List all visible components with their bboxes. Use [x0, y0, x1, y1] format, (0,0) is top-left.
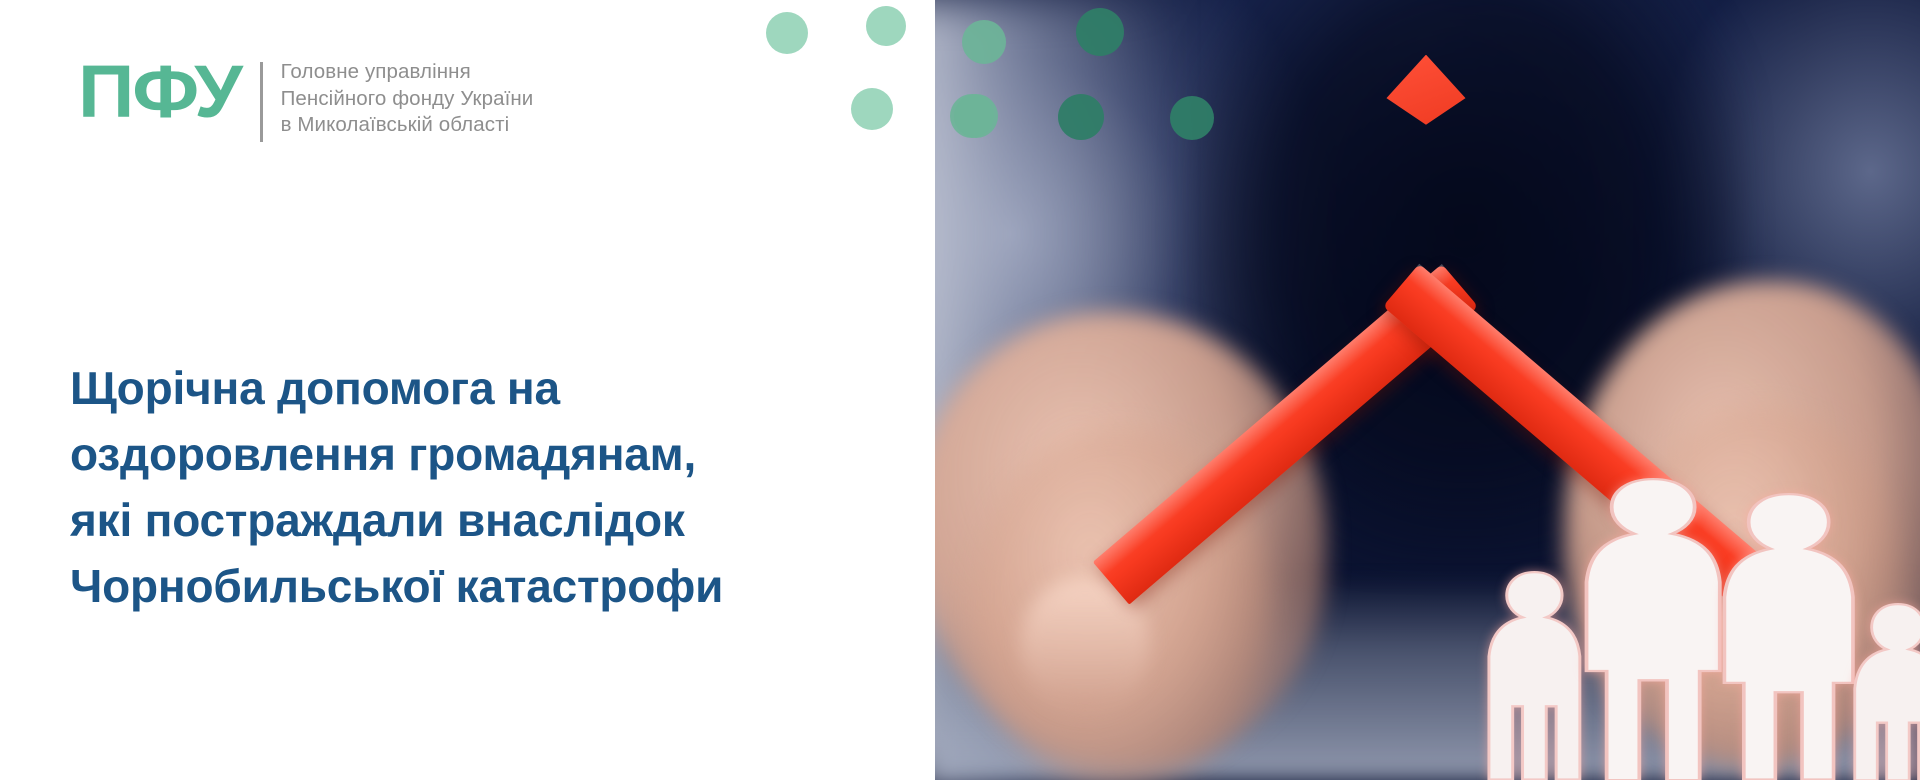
- panel-seam: [925, 0, 935, 780]
- headline-line-3: які постраждали внаслідок: [70, 487, 830, 553]
- organisation-name: Головне управління Пенсійного фонду Укра…: [281, 59, 534, 139]
- pfu-logo[interactable]: ПФУ Головне управління Пенсійного фонду …: [78, 58, 533, 142]
- page-title: Щорічна допомога на оздоровлення громадя…: [70, 355, 830, 619]
- headline-line-2: оздоровлення громадянам,: [70, 421, 830, 487]
- headline-line-4: Чорнобильської катастрофи: [70, 553, 830, 619]
- organisation-name-line-3: в Миколаївській області: [281, 112, 534, 139]
- pfu-logotype: ПФУ: [78, 58, 247, 126]
- paper-figure-child-left: [1485, 569, 1584, 780]
- paper-figure-child-right: [1851, 601, 1920, 780]
- headline-line-1: Щорічна допомога на: [70, 355, 830, 421]
- organisation-name-line-1: Головне управління: [281, 59, 534, 86]
- paper-figure-mother: [1722, 491, 1855, 780]
- logo-divider: [260, 62, 263, 142]
- paper-figure-father: [1584, 476, 1722, 780]
- organisation-name-line-2: Пенсійного фонду України: [281, 86, 534, 113]
- hero-photo: [932, 0, 1920, 780]
- banner: ПФУ Головне управління Пенсійного фонду …: [0, 0, 1920, 780]
- paper-family-group: [932, 0, 1920, 780]
